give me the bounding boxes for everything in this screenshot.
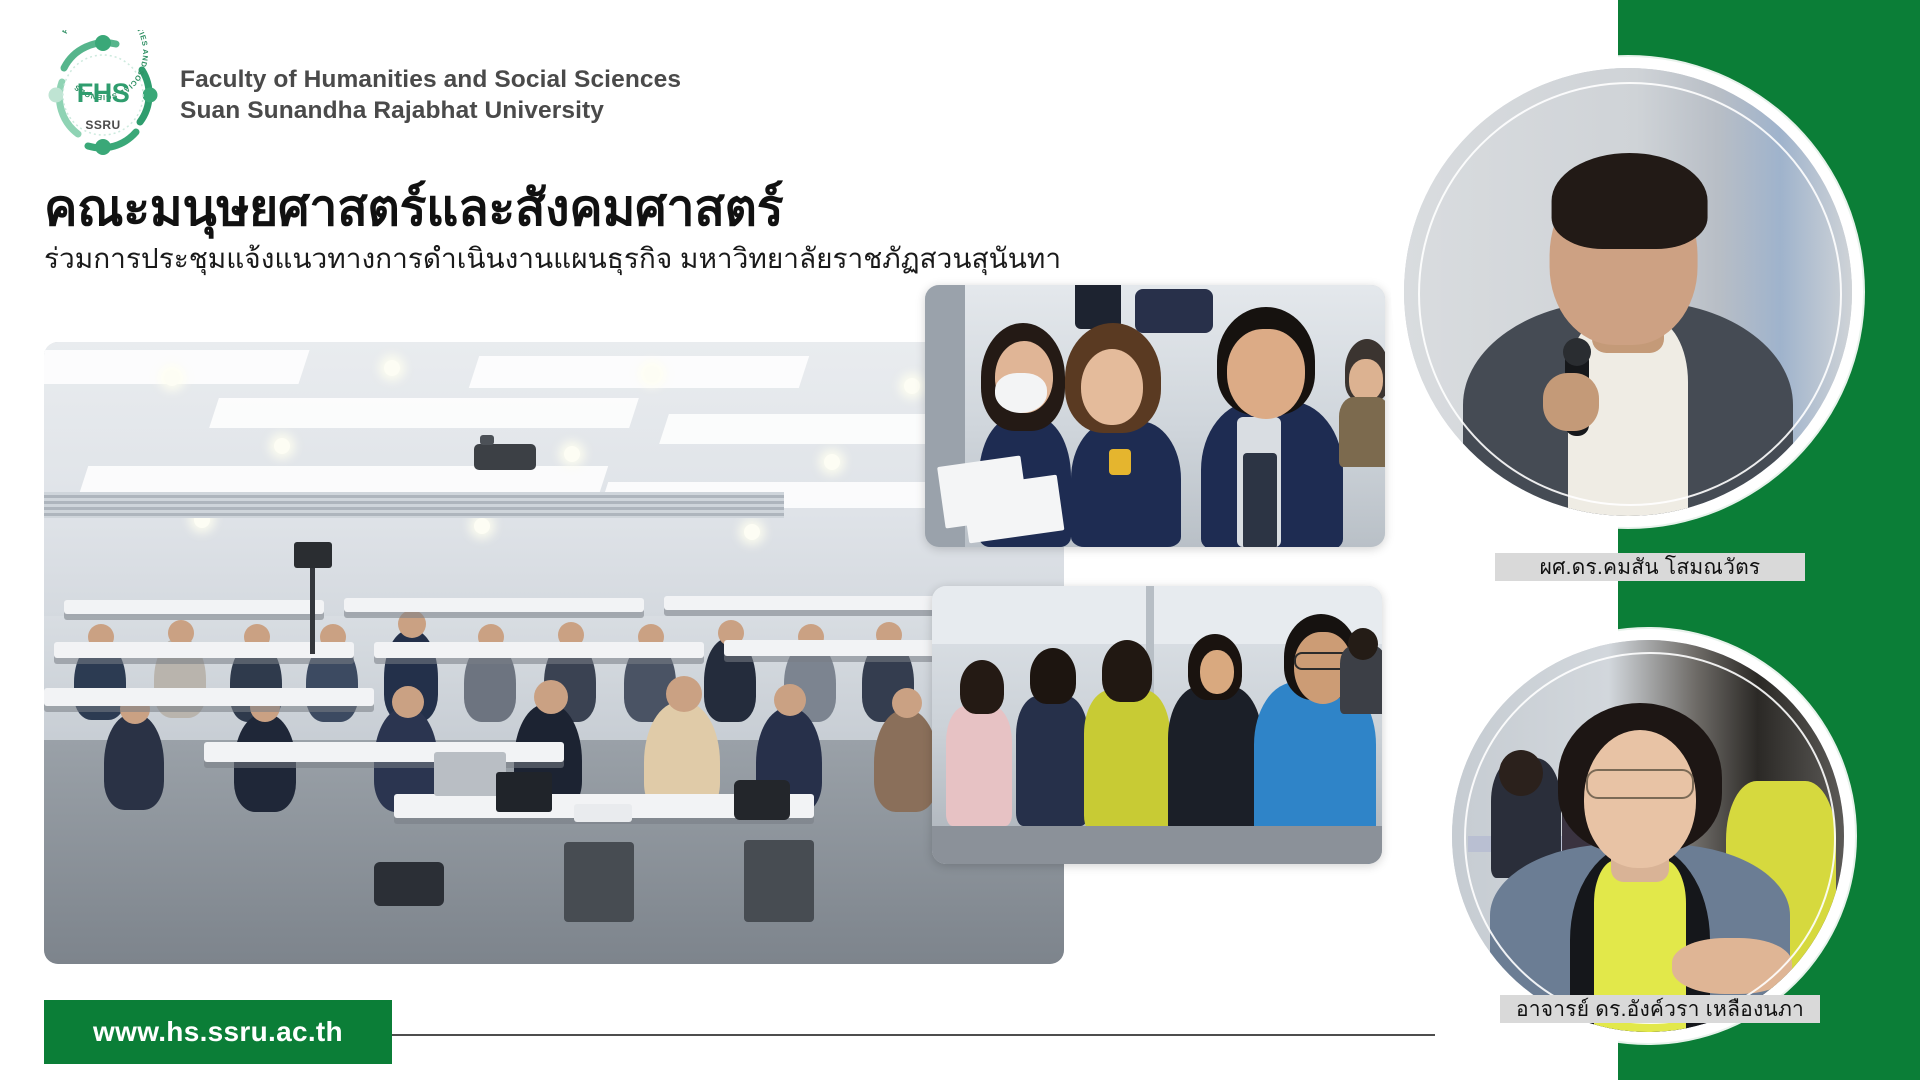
portrait-card-1 <box>1404 68 1852 516</box>
portrait-card-2 <box>1452 640 1844 1032</box>
page-subtitle: ร่วมการประชุมแจ้งแนวทางการดำเนินงานแผนธุ… <box>44 244 1061 275</box>
glasses-icon <box>1586 769 1694 799</box>
footer-divider <box>392 1034 1435 1036</box>
brand-line-1: Faculty of Humanities and Social Science… <box>180 64 681 95</box>
photo-conference-hall <box>44 342 1064 964</box>
photo-seated-audience <box>932 586 1382 864</box>
page-title: คณะมนุษยศาสตร์และสังคมศาสตร์ <box>44 182 1061 235</box>
portrait-photo-1 <box>1404 68 1852 516</box>
website-url: www.hs.ssru.ac.th <box>93 1016 343 1048</box>
portrait-photo-2 <box>1452 640 1844 1032</box>
photo-panel-attendees-art <box>925 285 1385 547</box>
fhs-logo-icon: FACULTY OF HUMANITIES AND SOCIAL SCIENCE… <box>44 30 162 160</box>
photo-panel-attendees <box>925 285 1385 547</box>
photo-collage <box>0 330 1420 970</box>
svg-text:FHS: FHS <box>77 78 130 108</box>
website-footer-box[interactable]: www.hs.ssru.ac.th <box>44 1000 392 1064</box>
photo-conference-hall-art <box>44 342 1064 964</box>
brand-header: FACULTY OF HUMANITIES AND SOCIAL SCIENCE… <box>44 30 681 160</box>
poster-canvas: FACULTY OF HUMANITIES AND SOCIAL SCIENCE… <box>0 0 1920 1080</box>
portrait-name-2: อาจารย์ ดร.อังค์วรา เหลืองนภา <box>1500 995 1820 1023</box>
brand-line-2: Suan Sunandha Rajabhat University <box>180 95 681 126</box>
portrait-name-1: ผศ.ดร.คมสัน โสมณวัตร <box>1495 553 1805 581</box>
brand-text: Faculty of Humanities and Social Science… <box>180 64 681 127</box>
headline-block: คณะมนุษยศาสตร์และสังคมศาสตร์ ร่วมการประช… <box>44 182 1061 274</box>
svg-text:SSRU: SSRU <box>85 118 120 132</box>
photo-seated-audience-art <box>932 586 1382 864</box>
